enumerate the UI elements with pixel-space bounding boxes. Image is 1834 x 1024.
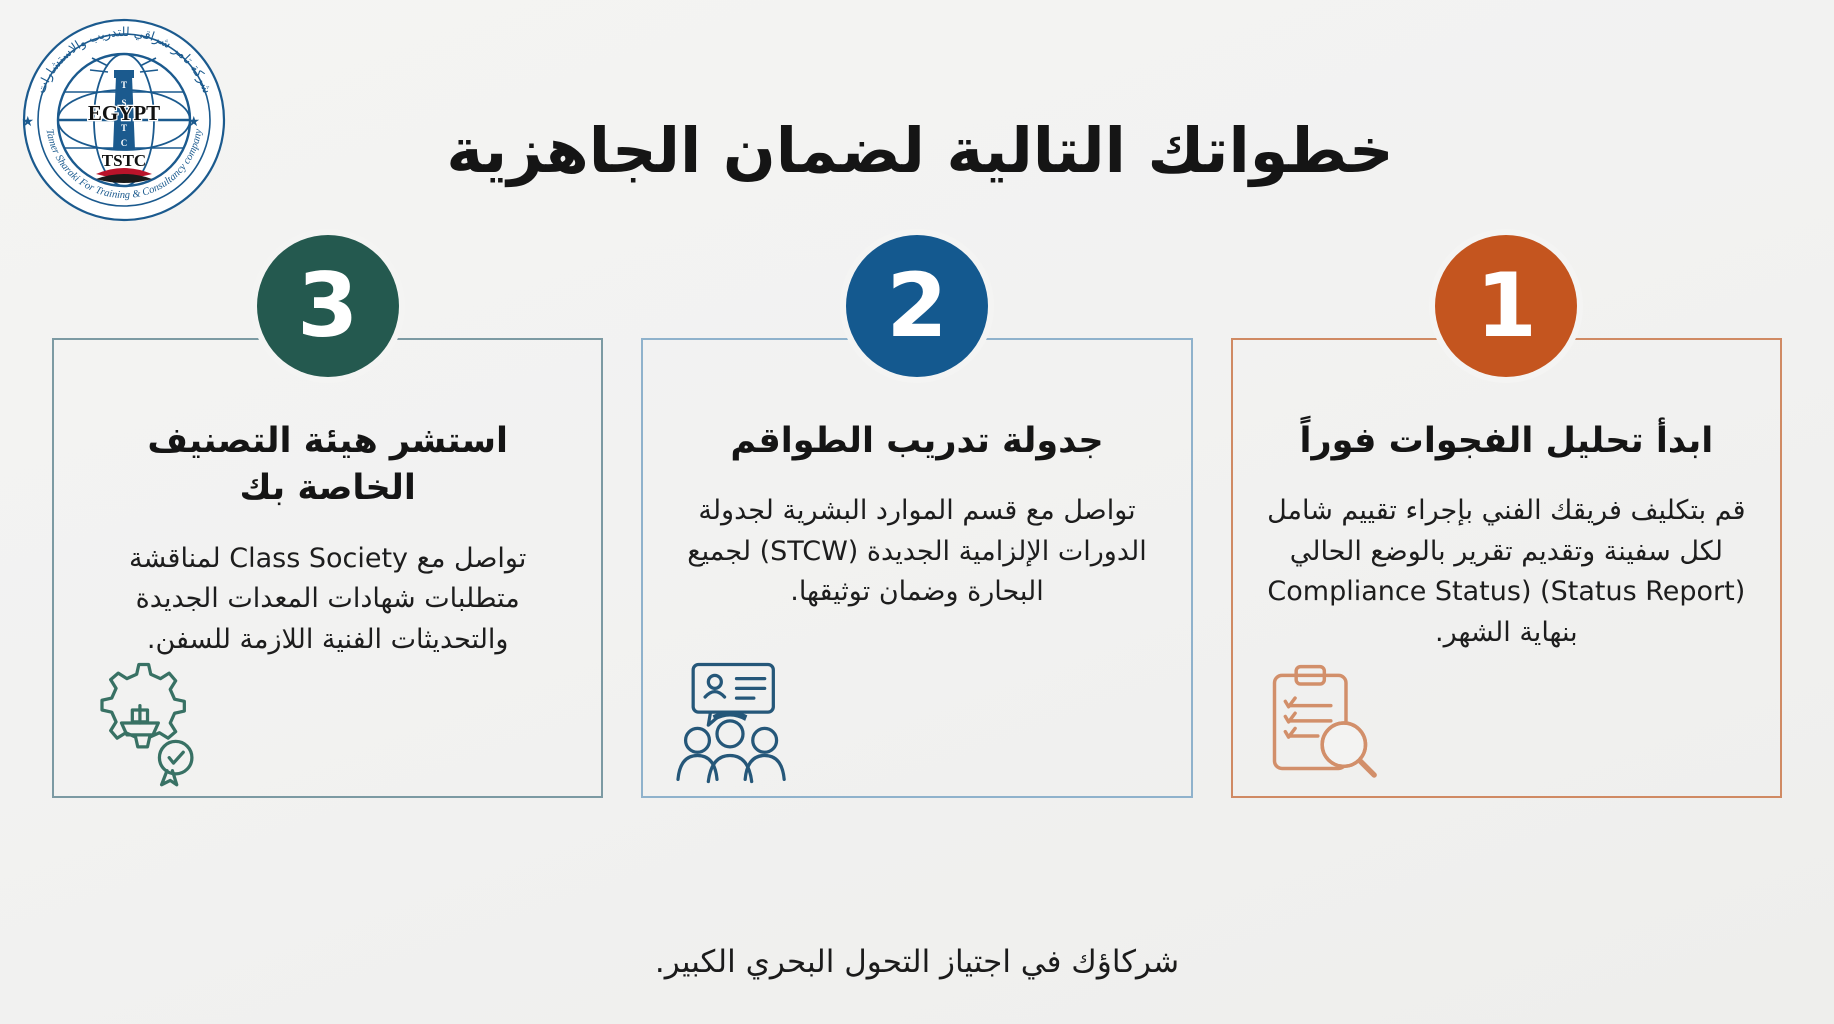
footer-text: شركاؤك في اجتياز التحول البحري الكبير. [0, 944, 1834, 980]
step-title-2: جدولة تدريب الطواقم [673, 418, 1160, 465]
step-body-2: تواصل مع قسم الموارد البشرية لجدولة الدو… [673, 491, 1160, 613]
clipboard-magnifier-icon [1255, 658, 1385, 788]
ship-gear-certificate-icon [76, 658, 206, 788]
step-badge-1: 1 [1435, 235, 1577, 377]
svg-text:T: T [121, 80, 127, 90]
step-badge-2: 2 [846, 235, 988, 377]
slide-root: T S T C EGYPT TSTC ★ ★ شركة تامر شراقي ل… [0, 0, 1834, 1024]
step-card-2[interactable]: 2 جدولة تدريب الطواقم تواصل مع قسم الموا… [641, 338, 1192, 798]
step-title-1: ابدأ تحليل الفجوات فوراً [1263, 418, 1750, 465]
svg-text:★: ★ [21, 114, 34, 130]
page-title: خطواتك التالية لضمان الجاهزية [290, 114, 1550, 187]
step-card-3[interactable]: 3 استشر هيئة التصنيف الخاصة بك تواصل مع … [52, 338, 603, 798]
step-badge-3: 3 [257, 235, 399, 377]
svg-text:C: C [121, 138, 128, 148]
steps-container: 1 ابدأ تحليل الفجوات فوراً قم بتكليف فري… [52, 338, 1782, 798]
step-body-1: قم بتكليف فريقك الفني بإجراء تقييم شامل … [1263, 491, 1750, 653]
svg-text:★: ★ [187, 114, 200, 130]
step-card-1[interactable]: 1 ابدأ تحليل الفجوات فوراً قم بتكليف فري… [1231, 338, 1782, 798]
tstc-logo: T S T C EGYPT TSTC ★ ★ شركة تامر شراقي ل… [18, 14, 230, 226]
logo-acronym-text: TSTC [102, 151, 146, 170]
crew-id-card-icon [665, 658, 795, 788]
step-body-3: تواصل مع Class Society لمناقشة متطلبات ش… [84, 539, 571, 661]
logo-country-text: EGYPT [88, 101, 160, 125]
step-title-3: استشر هيئة التصنيف الخاصة بك [84, 418, 571, 513]
